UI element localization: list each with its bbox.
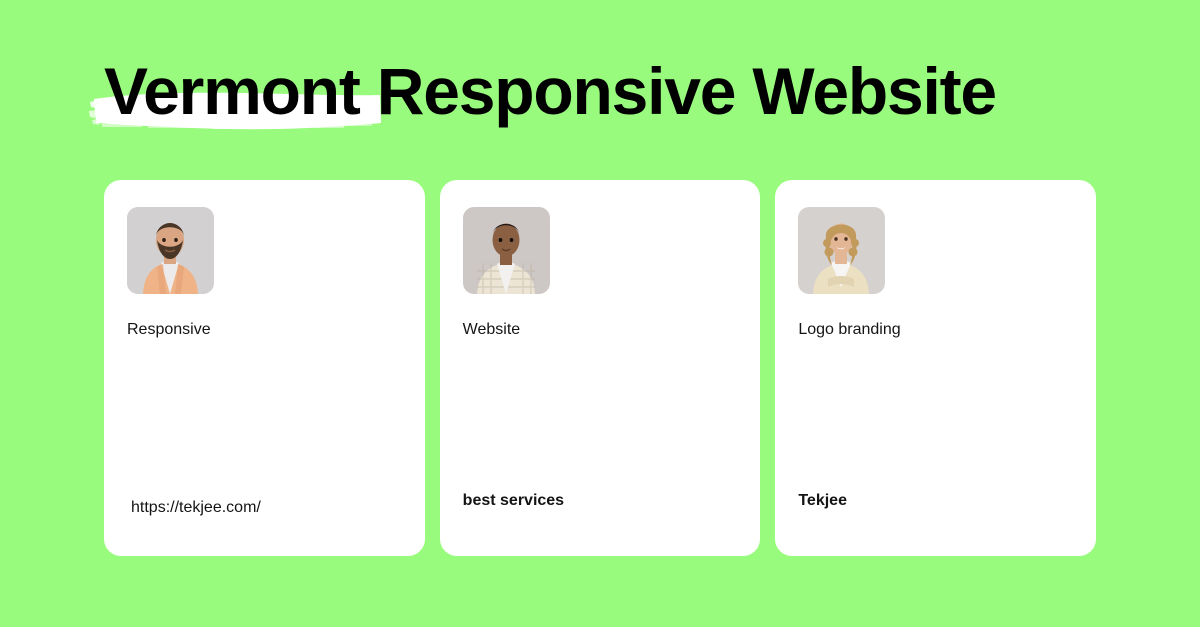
card-website[interactable]: Website best services	[440, 180, 761, 556]
card-footer-text: Tekjee	[798, 491, 1074, 534]
avatar	[127, 207, 214, 294]
card-responsive[interactable]: Responsive https://tekjee.com/	[104, 180, 425, 556]
card-label: Logo branding	[798, 320, 1074, 340]
avatar-man-plaid-shirt-icon	[463, 207, 550, 294]
avatar	[798, 207, 885, 294]
card-label: Responsive	[127, 320, 403, 340]
avatar	[463, 207, 550, 294]
avatar-woman-curly-hair-icon	[798, 207, 885, 294]
card-list: Responsive https://tekjee.com/	[104, 180, 1096, 556]
page-header: Vermont Responsive Website	[104, 44, 1104, 144]
avatar-bearded-man-icon	[127, 207, 214, 294]
card-label: Website	[463, 320, 739, 340]
card-footer-link[interactable]: https://tekjee.com/	[127, 498, 403, 534]
card-logo-branding[interactable]: Logo branding Tekjee	[775, 180, 1096, 556]
page-title: Vermont Responsive Website	[104, 44, 996, 138]
card-footer-text: best services	[463, 491, 739, 534]
